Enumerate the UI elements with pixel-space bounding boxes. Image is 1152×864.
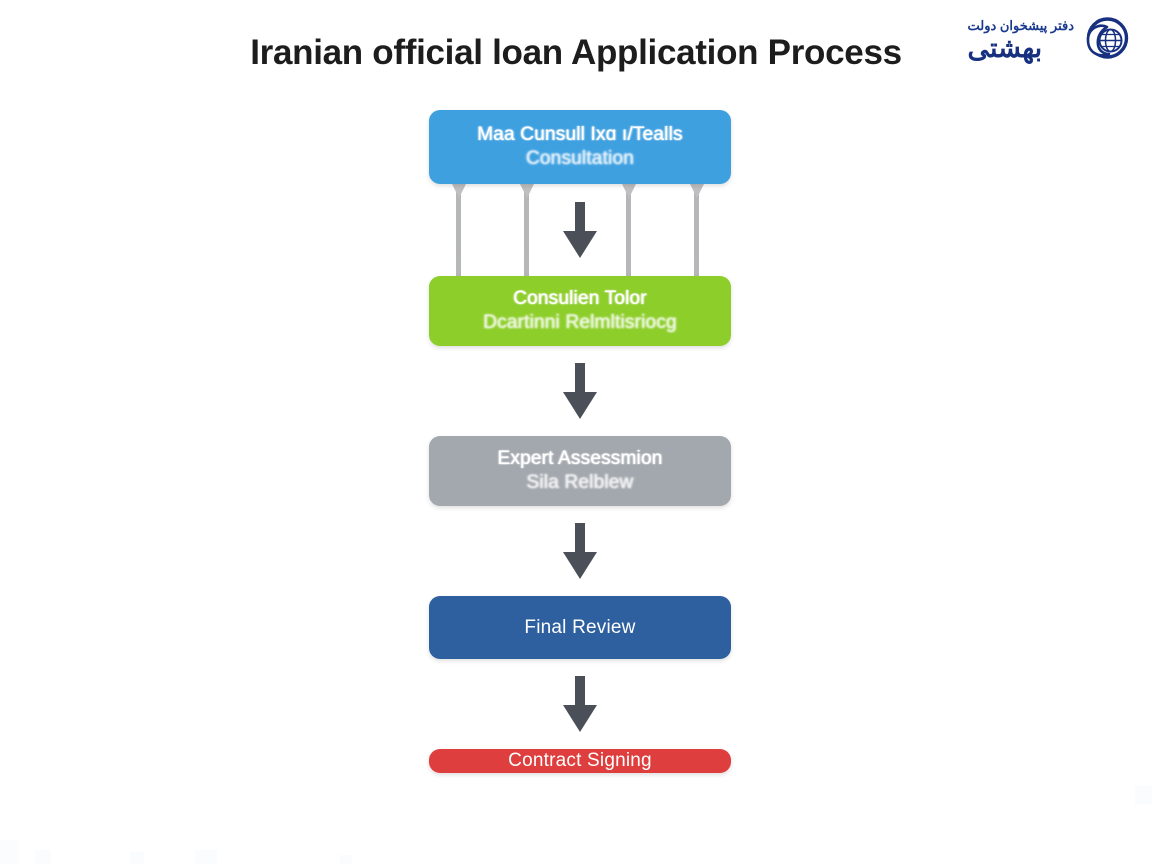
connector-assessment-to-final-review (429, 506, 731, 596)
flowchart: Maa Cunsull Ixɑ ı/Tealls Consultation Co… (429, 110, 731, 773)
logo: دفتر پیشخوان دولت بهشتی (967, 14, 1132, 66)
connector-rail (626, 180, 631, 280)
background-artifact (35, 850, 51, 864)
flow-node-contract-signing[interactable]: Contract Signing (429, 749, 731, 773)
arrow-down-icon (562, 523, 598, 580)
connector-rail (694, 180, 699, 280)
flow-node-documentation-line1: Consulien Tolor (513, 287, 647, 311)
background-artifact (195, 850, 217, 864)
logo-text: دفتر پیشخوان دولت بهشتی (967, 19, 1074, 62)
arrow-down-icon (562, 676, 598, 733)
connector-documentation-to-assessment (429, 346, 731, 436)
flow-node-assessment[interactable]: Expert Assessmion Sila Relblew (429, 436, 731, 506)
background-artifact (1135, 786, 1152, 804)
flow-node-documentation[interactable]: Consulien Tolor Dcartinni Relmltisriocg (429, 276, 731, 346)
logo-line-top: دفتر پیشخوان دولت (967, 19, 1074, 32)
arrow-down-icon (562, 202, 598, 259)
flow-node-documentation-line2: Dcartinni Relmltisriocg (483, 311, 677, 335)
flow-node-consultation-line2: Consultation (526, 147, 634, 171)
connector-rail (456, 180, 461, 280)
arrow-down-icon (562, 363, 598, 420)
flow-node-final-review[interactable]: Final Review (429, 596, 731, 659)
flow-node-contract-signing-line1: Contract Signing (508, 749, 652, 773)
globe-icon (1080, 14, 1132, 66)
flow-node-assessment-line1: Expert Assessmion (498, 447, 663, 471)
flow-node-final-review-line1: Final Review (524, 616, 635, 640)
connector-consultation-to-documentation (429, 184, 731, 276)
flow-node-consultation-line1: Maa Cunsull Ixɑ ı/Tealls (477, 123, 682, 147)
connector-rail (524, 180, 529, 280)
connector-final-review-to-contract-signing (429, 659, 731, 749)
flow-node-assessment-line2: Sila Relblew (527, 471, 634, 495)
logo-line-bottom: بهشتی (967, 35, 1042, 62)
background-artifact (340, 855, 352, 864)
background-artifact (130, 852, 144, 864)
background-artifact (0, 840, 18, 864)
flow-node-consultation[interactable]: Maa Cunsull Ixɑ ı/Tealls Consultation (429, 110, 731, 184)
